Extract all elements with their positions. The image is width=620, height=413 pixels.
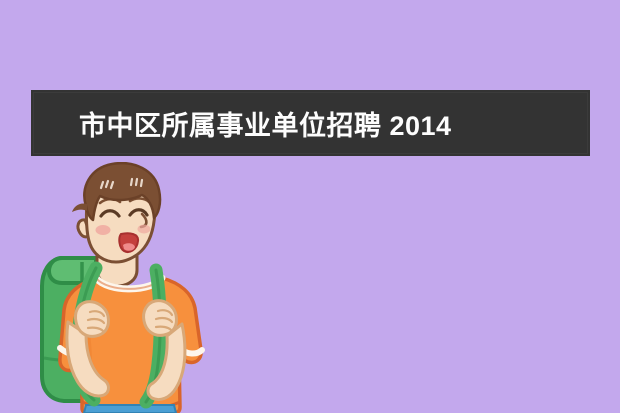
jeans (84, 405, 176, 413)
hair-wisp (72, 203, 87, 212)
left-hand (75, 302, 108, 337)
left-cheek (96, 225, 111, 235)
banner-image: 市中区所属事业单位招聘 2014 (0, 0, 620, 413)
student-with-backpack-illustration (24, 162, 234, 413)
illustration-svg (24, 162, 234, 413)
right-hand (144, 301, 177, 336)
page-title: 市中区所属事业单位招聘 2014 (31, 90, 590, 156)
right-cheek (138, 225, 151, 234)
title-bar: 市中区所属事业单位招聘 2014 (31, 90, 590, 156)
head (72, 163, 160, 262)
